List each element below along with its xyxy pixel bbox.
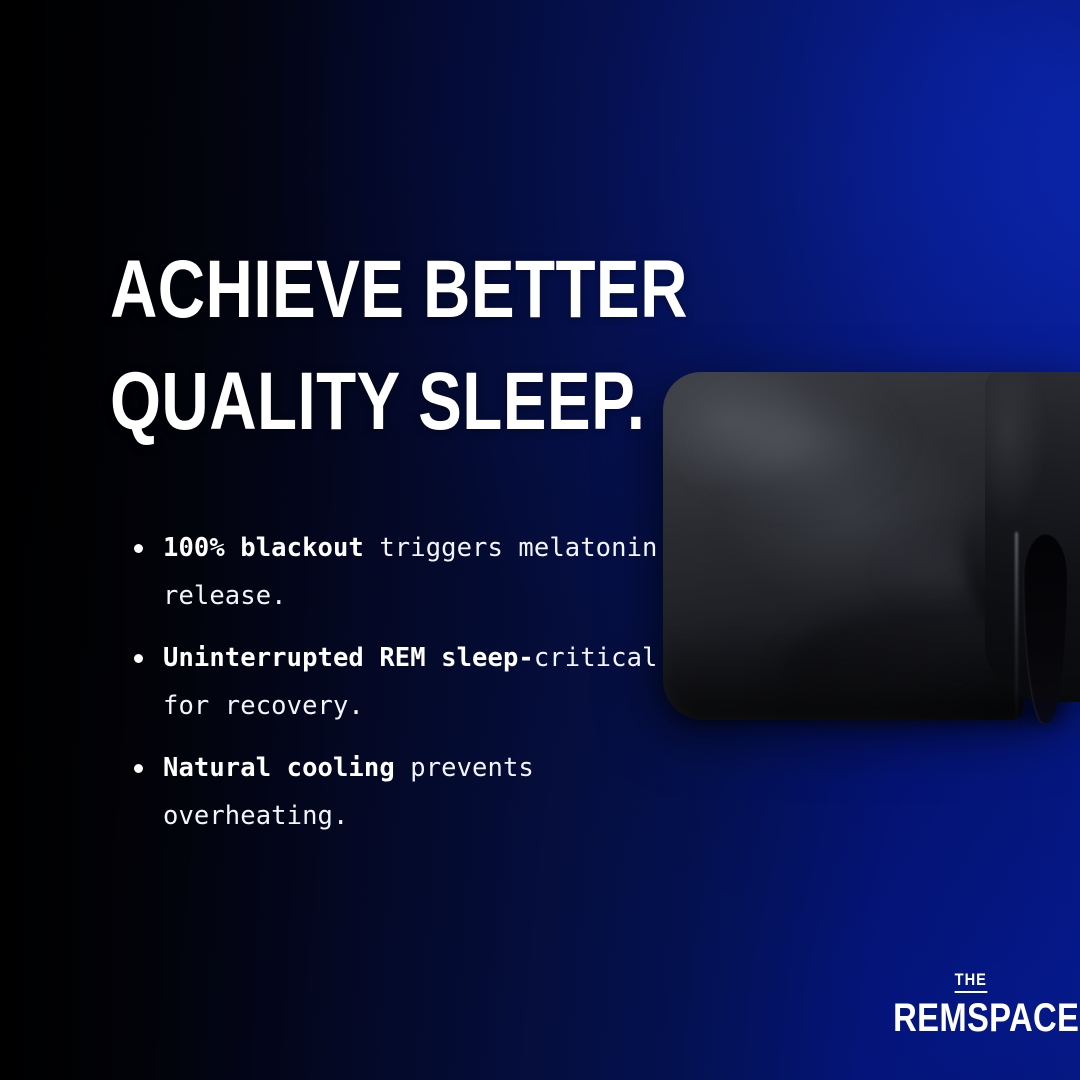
mask-strap-edge-highlight xyxy=(1015,532,1018,728)
bullet-dot-icon xyxy=(134,544,143,553)
bullet-dot-icon xyxy=(134,764,143,773)
headline: ACHIEVE BETTER QUALITY SLEEP. xyxy=(110,234,710,458)
bullet-dot-icon xyxy=(134,654,143,663)
logo-the-text: THE xyxy=(955,971,987,993)
headline-line-1: ACHIEVE BETTER xyxy=(110,234,590,346)
bullet-emphasis: 100% blackout xyxy=(163,533,364,563)
benefit-list: 100% blackout triggers melatonin release… xyxy=(118,524,678,840)
bullet-emphasis: Natural cooling xyxy=(163,753,395,783)
list-item: Natural cooling prevents overheating. xyxy=(118,744,678,840)
logo-wordmark: REMSPACE xyxy=(893,998,1049,1038)
headline-line-2: QUALITY SLEEP. xyxy=(110,346,590,458)
list-item: Uninterrupted REM sleep-critical for rec… xyxy=(118,634,678,730)
product-image-sleep-mask xyxy=(663,372,1080,722)
brand-logo: THE REMSPACE xyxy=(876,971,1066,1038)
list-item: 100% blackout triggers melatonin release… xyxy=(118,524,678,620)
promo-graphic: ACHIEVE BETTER QUALITY SLEEP. 100% black… xyxy=(0,0,1080,1080)
bullet-emphasis: Uninterrupted REM sleep- xyxy=(163,643,534,673)
